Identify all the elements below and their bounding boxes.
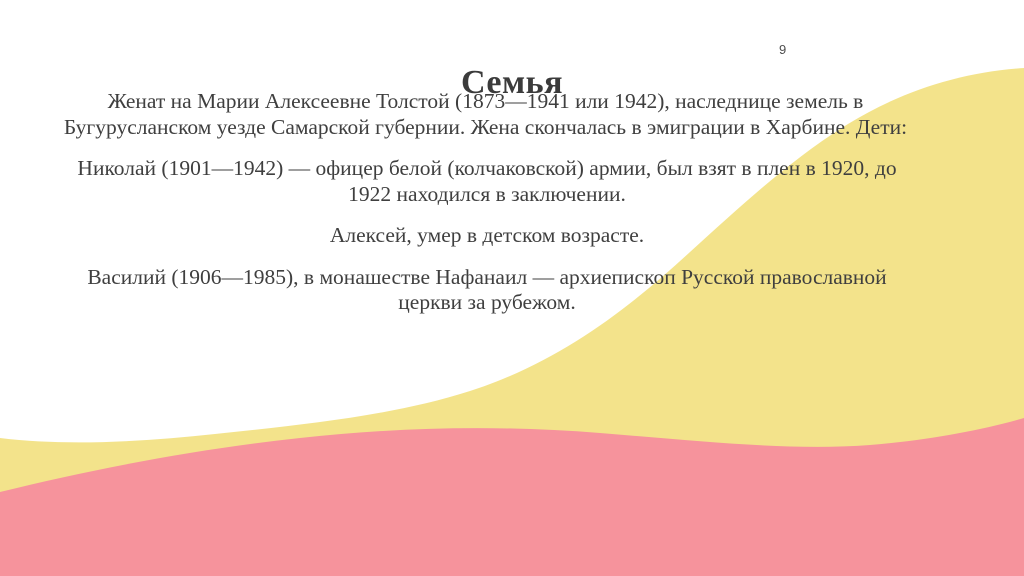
page-number: 9	[779, 42, 786, 57]
body-text-block: Женат на Марии Алексеевне Толстой (1873—…	[57, 89, 917, 316]
paragraph-aleksey: Алексей, умер в детском возрасте.	[57, 223, 917, 249]
paragraph-vasiliy: Василий (1906—1985), в монашестве Нафана…	[57, 265, 917, 316]
slide-content: 9 Семья Женат на Марии Алексеевне Толсто…	[0, 0, 1024, 576]
slide: 9 Семья Женат на Марии Алексеевне Толсто…	[0, 0, 1024, 576]
paragraph-marriage: Женат на Марии Алексеевне Толстой (1873—…	[54, 89, 917, 140]
paragraph-nikolay: Николай (1901—1942) — офицер белой (колч…	[57, 156, 917, 207]
